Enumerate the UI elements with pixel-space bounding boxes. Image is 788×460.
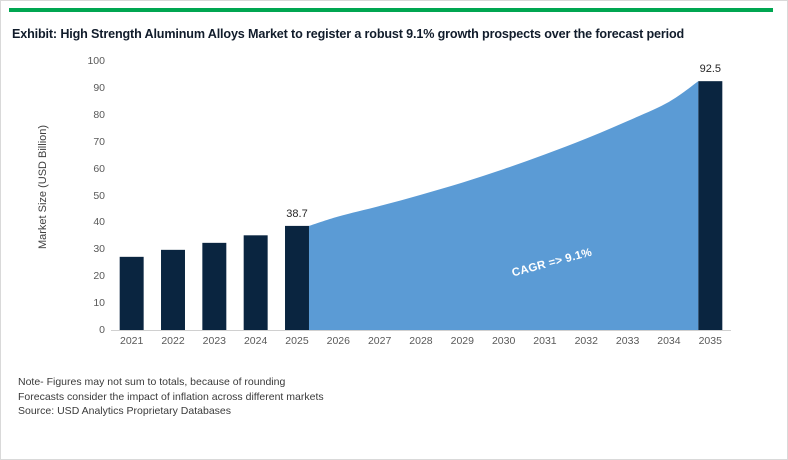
- y-tick-label: 50: [71, 191, 105, 201]
- data-label-2025: 38.7: [286, 208, 307, 220]
- y-tick-label: 40: [71, 217, 105, 227]
- bar-2023[interactable]: [202, 243, 226, 330]
- data-label-2035: 92.5: [700, 63, 721, 75]
- x-tick-label: 2025: [276, 335, 317, 355]
- x-tick-label: 2028: [400, 335, 441, 355]
- x-tick-label: 2022: [152, 335, 193, 355]
- bar-2021[interactable]: [120, 257, 144, 330]
- y-tick-label: 10: [71, 298, 105, 308]
- x-tick-label: 2026: [318, 335, 359, 355]
- footnote-line-2: Forecasts consider the impact of inflati…: [18, 390, 324, 405]
- bar-2024[interactable]: [244, 235, 268, 330]
- x-tick-label: 2024: [235, 335, 276, 355]
- x-tick-label: 2023: [194, 335, 235, 355]
- y-tick-label: 0: [71, 325, 105, 335]
- x-tick-label: 2034: [648, 335, 689, 355]
- plot-body: 38.792.5 CAGR => 9.1%: [111, 61, 731, 361]
- y-tick-label: 90: [71, 83, 105, 93]
- x-tick-label: 2029: [442, 335, 483, 355]
- bar-2025[interactable]: [285, 226, 309, 330]
- y-tick-label: 70: [71, 137, 105, 147]
- x-tick-label: 2035: [690, 335, 731, 355]
- bar-2035[interactable]: [698, 81, 722, 330]
- x-tick-label: 2032: [566, 335, 607, 355]
- x-tick-label: 2033: [607, 335, 648, 355]
- y-tick-label: 20: [71, 271, 105, 281]
- x-tick-label: 2021: [111, 335, 152, 355]
- bar-2022[interactable]: [161, 250, 185, 330]
- chart-graphics: [111, 61, 731, 330]
- footnote-source: Source: USD Analytics Proprietary Databa…: [18, 404, 324, 419]
- y-axis-ticks: 1009080706050403020100: [71, 61, 105, 361]
- y-axis-title: Market Size (USD Billion): [37, 97, 49, 277]
- forecast-area-fill: [309, 81, 698, 330]
- footnote-line-1: Note- Figures may not sum to totals, bec…: [18, 375, 324, 390]
- y-tick-label: 30: [71, 244, 105, 254]
- x-tick-label: 2030: [483, 335, 524, 355]
- chart-area: Market Size (USD Billion) 10090807060504…: [1, 61, 788, 361]
- chart-page: Exhibit: High Strength Aluminum Alloys M…: [0, 0, 788, 460]
- accent-rule: [9, 8, 773, 12]
- footnotes: Note- Figures may not sum to totals, bec…: [18, 375, 324, 419]
- y-tick-label: 80: [71, 110, 105, 120]
- x-tick-label: 2027: [359, 335, 400, 355]
- forecast-area: [309, 81, 698, 330]
- y-tick-label: 60: [71, 164, 105, 174]
- y-tick-label: 100: [71, 56, 105, 66]
- x-tick-label: 2031: [524, 335, 565, 355]
- x-axis-ticks: 2021202220232024202520262027202820292030…: [111, 335, 731, 355]
- page-title: Exhibit: High Strength Aluminum Alloys M…: [12, 27, 772, 41]
